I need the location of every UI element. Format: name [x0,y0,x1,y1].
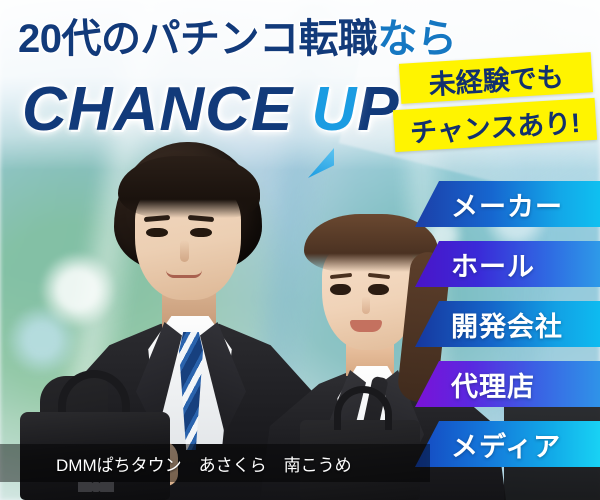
tag-hall[interactable]: ホール [415,241,600,287]
credit-text: DMMぱちタウン あさくら 南こうめ [56,451,352,476]
tag-media[interactable]: メディア [415,421,600,467]
tag-agency-label: 代理店 [451,365,535,404]
credit-bar: DMMぱちタウン あさくら 南こうめ [0,444,430,482]
tag-maker-label: メーカー [451,185,563,224]
tag-hall-label: ホール [451,245,535,284]
tag-maker[interactable]: メーカー [415,181,600,227]
tag-development-company[interactable]: 開発会社 [415,301,600,347]
tag-agency[interactable]: 代理店 [415,361,600,407]
advertisement-banner[interactable]: 20代のパチンコ転職なら CHANCE UP 未経験でも チャンスあり! メーカ… [0,0,600,500]
tag-development-company-label: 開発会社 [451,305,563,344]
job-category-tag-list: メーカー ホール 開発会社 代理店 メディア [0,0,600,500]
tag-media-label: メディア [451,425,561,464]
